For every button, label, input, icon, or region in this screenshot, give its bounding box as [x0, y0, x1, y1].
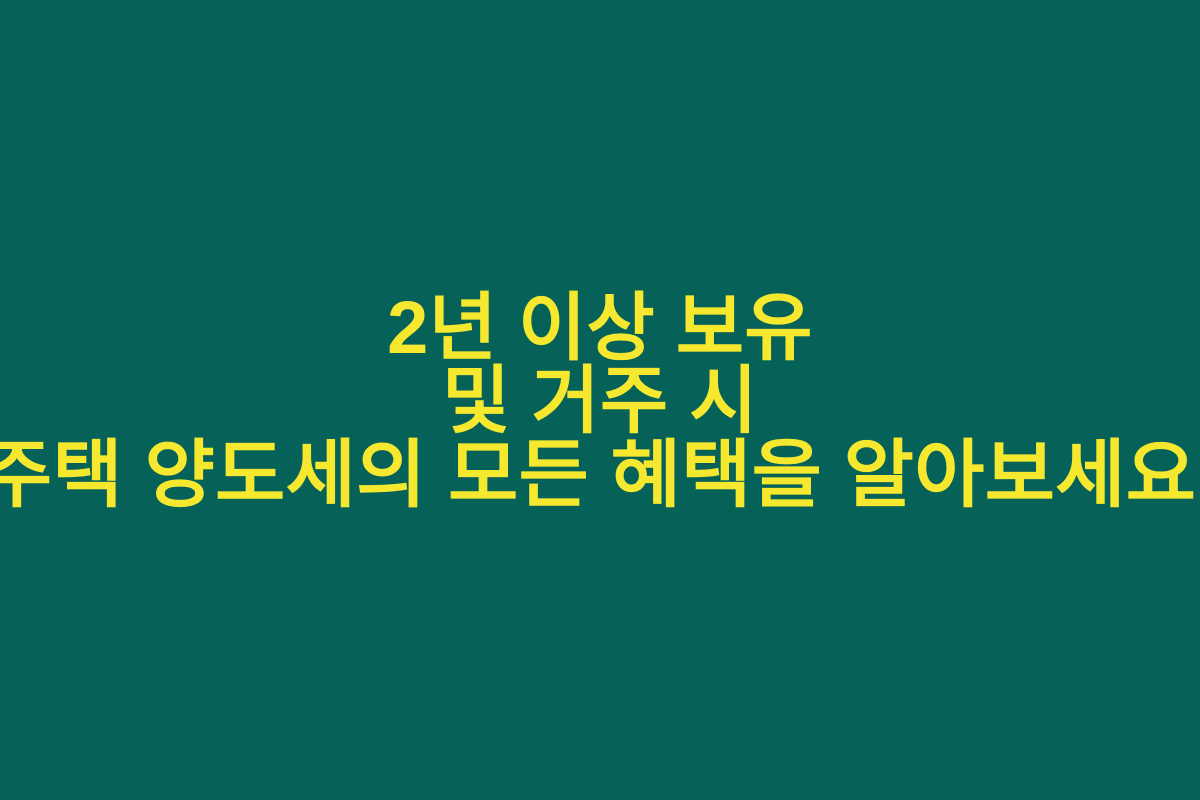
headline-line-1: 2년 이상 보유 [0, 291, 1200, 364]
banner-canvas: 2년 이상 보유 및 거주 시 주택 양도세의 모든 혜택을 알아보세요! [0, 0, 1200, 800]
headline-text-block: 2년 이상 보유 및 거주 시 주택 양도세의 모든 혜택을 알아보세요! [0, 291, 1200, 511]
headline-line-2: 및 거주 시 [0, 364, 1200, 437]
headline-line-3: 주택 양도세의 모든 혜택을 알아보세요! [0, 438, 1200, 511]
